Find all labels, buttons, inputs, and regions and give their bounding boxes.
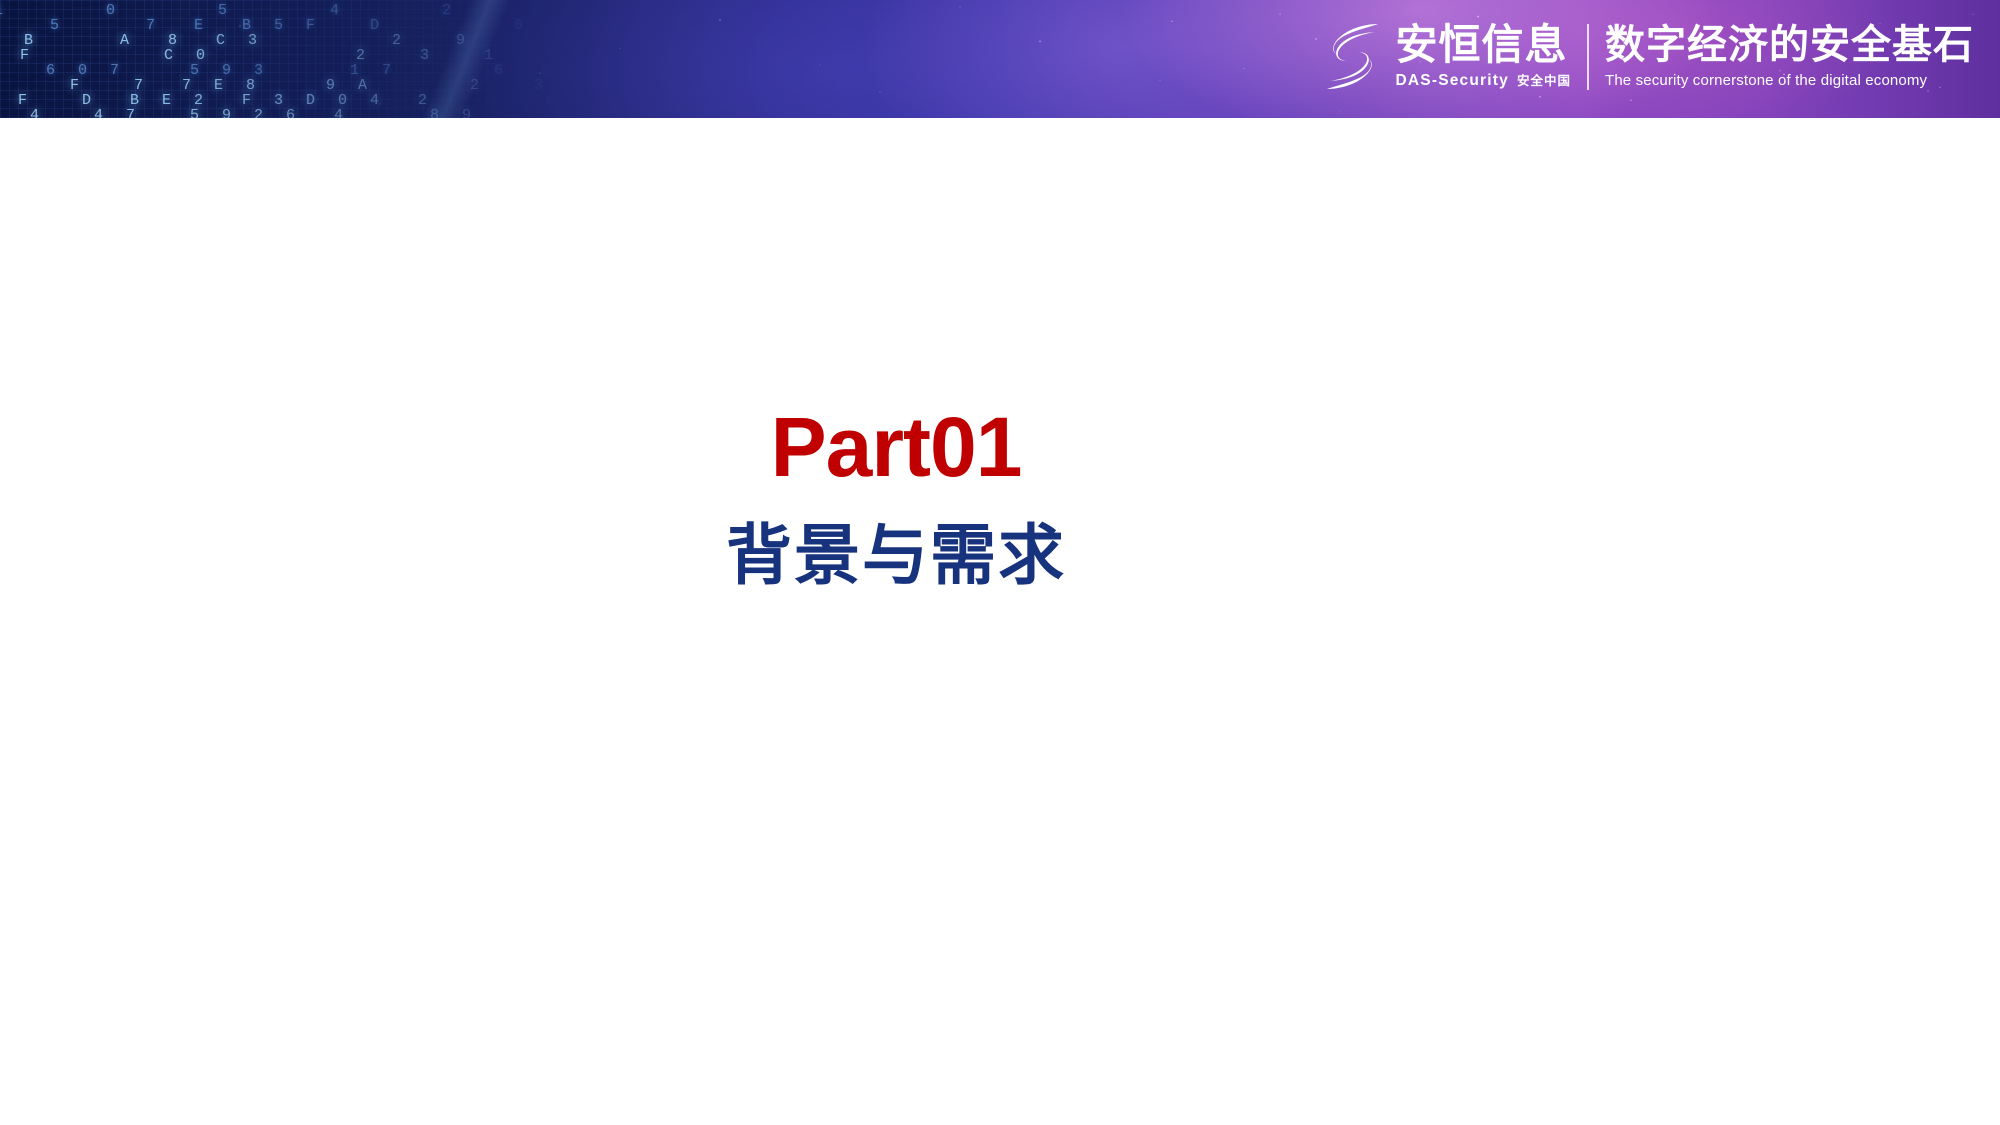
- brand-name-block: 安恒信息 DAS-Security 安全中国: [1396, 24, 1571, 91]
- part-number: Part01: [0, 403, 1792, 491]
- slogan-en: The security cornerstone of the digital …: [1605, 72, 1974, 89]
- brand-slogan-block: 数字经济的安全基石 The security cornerstone of th…: [1605, 25, 1974, 89]
- logo-divider: [1587, 24, 1589, 90]
- company-name-cn: 安恒信息: [1396, 24, 1571, 67]
- company-name-en: DAS-Security: [1396, 72, 1509, 90]
- slide-root: 1 0 5 4 2 4 1 A 4 5 7 E B 5 F D 0 6 1 4 …: [0, 0, 2000, 1125]
- company-name-sub-block: DAS-Security 安全中国: [1396, 70, 1571, 90]
- company-tagline-cn: 安全中国: [1517, 70, 1571, 89]
- header-banner: 1 0 5 4 2 4 1 A 4 5 7 E B 5 F D 0 6 1 4 …: [0, 0, 2000, 118]
- slogan-cn: 数字经济的安全基石: [1605, 25, 1974, 67]
- slide-body: Part01 背景与需求: [0, 118, 2000, 1125]
- hex-code-pattern: 1 0 5 4 2 4 1 A 4 5 7 E B 5 F D 0 6 1 4 …: [0, 0, 620, 118]
- hex-code-row: 4 4 7 5 9 2 6 4 8 9 A 6 C 7 8: [0, 107, 620, 118]
- brand-logo-lockup: 安恒信息 DAS-Security 安全中国 数字经济的安全基石 The sec…: [1322, 14, 1974, 100]
- section-title-block: Part01 背景与需求: [0, 403, 1792, 593]
- part-subtitle: 背景与需求: [0, 519, 1792, 593]
- das-security-swoosh-icon: [1322, 19, 1380, 95]
